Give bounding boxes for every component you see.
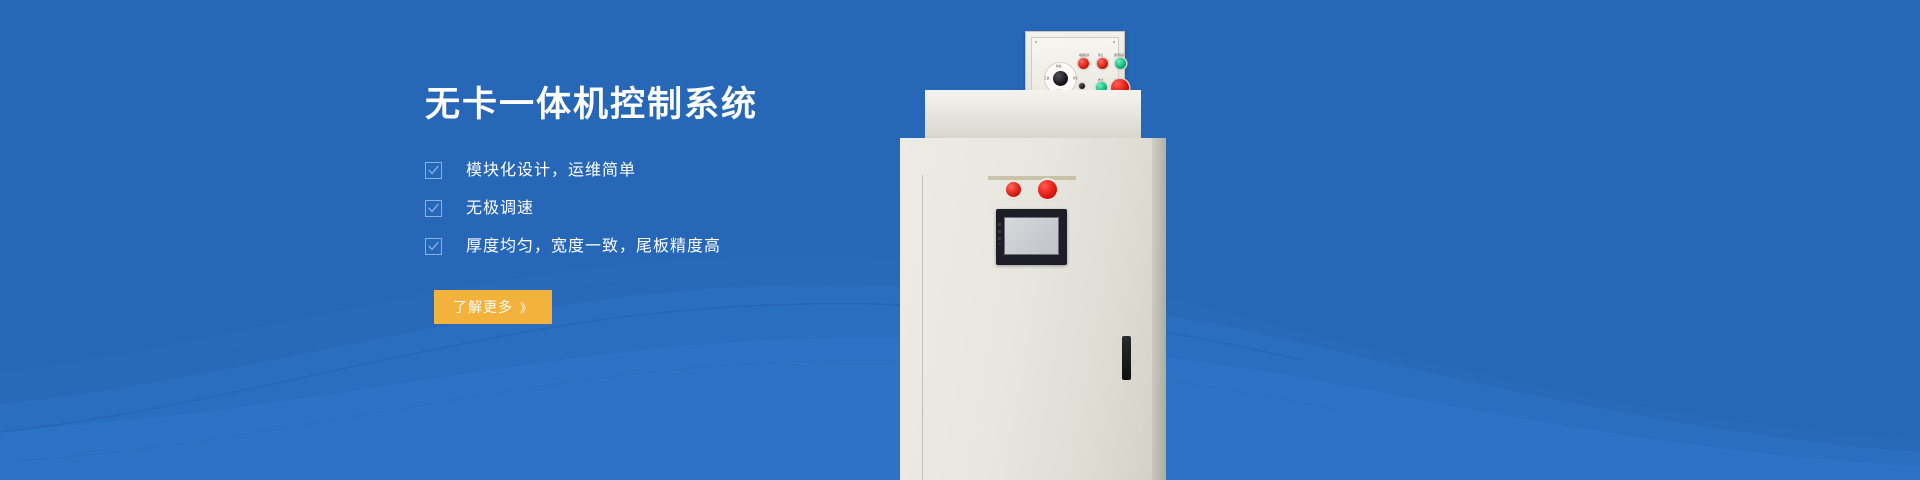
feature-label: 无极调速	[466, 200, 534, 217]
button-label-run-ind: 运行指示	[1114, 53, 1124, 57]
hmi-side-keys[interactable]	[998, 223, 1001, 245]
button-reset-black[interactable]	[1079, 83, 1085, 89]
cabinet-door-handle[interactable]	[1122, 336, 1131, 380]
hero-banner: 无卡一体机控制系统 模块化设计，运维简单 无极调速	[0, 0, 1920, 480]
checkbox-check-icon	[425, 238, 442, 255]
list-item: 模块化设计，运维简单	[425, 160, 965, 180]
banner-content: 无卡一体机控制系统 模块化设计，运维简单 无极调速	[425, 84, 965, 324]
feature-list: 模块化设计，运维简单 无极调速 厚度均匀，宽度一致，尾板精度高	[425, 160, 965, 256]
learn-more-button[interactable]: 了解更多 》	[434, 290, 552, 324]
screw-icon	[1113, 41, 1115, 43]
feature-label: 模块化设计，运维简单	[466, 162, 636, 179]
chevron-right-icon: 》	[520, 299, 533, 316]
button-stop-red[interactable]	[1097, 58, 1108, 69]
cabinet-indicator-small-red[interactable]	[1006, 182, 1021, 197]
control-cabinet-photo: 快进 工进 停止 快退 电源指示 停止 运行指示 启动 急停	[900, 0, 1200, 480]
button-start-green[interactable]	[1115, 58, 1126, 69]
button-label-stop: 停止	[1098, 53, 1103, 57]
cabinet-door-seam	[922, 175, 923, 480]
checkbox-check-icon	[425, 162, 442, 179]
list-item: 厚度均匀，宽度一致，尾板精度高	[425, 236, 965, 256]
knob-label-top: 快进	[1056, 64, 1061, 68]
hmi-touch-screen[interactable]	[996, 209, 1067, 265]
main-cabinet-body	[900, 138, 1166, 480]
feature-label: 厚度均匀，宽度一致，尾板精度高	[466, 238, 721, 255]
cabinet-top-cap	[925, 90, 1141, 140]
cabinet-indicator-large-red[interactable]	[1038, 180, 1057, 199]
page-title: 无卡一体机控制系统	[425, 84, 965, 126]
knob-label-left: 工进	[1044, 76, 1049, 80]
checkbox-check-icon	[425, 200, 442, 217]
learn-more-label: 了解更多	[453, 297, 513, 317]
panel-faceplate: 快进 工进 停止 快退 电源指示 停止 运行指示 启动 急停	[1031, 37, 1119, 98]
indicator-power-red[interactable]	[1078, 58, 1089, 69]
list-item: 无极调速	[425, 198, 965, 218]
knob-label-right: 停止	[1073, 76, 1078, 80]
screw-icon	[1035, 41, 1037, 43]
hmi-screen-surface[interactable]	[1004, 217, 1059, 255]
button-label-power: 电源指示	[1079, 53, 1089, 57]
panel-trim-strip	[988, 176, 1076, 180]
